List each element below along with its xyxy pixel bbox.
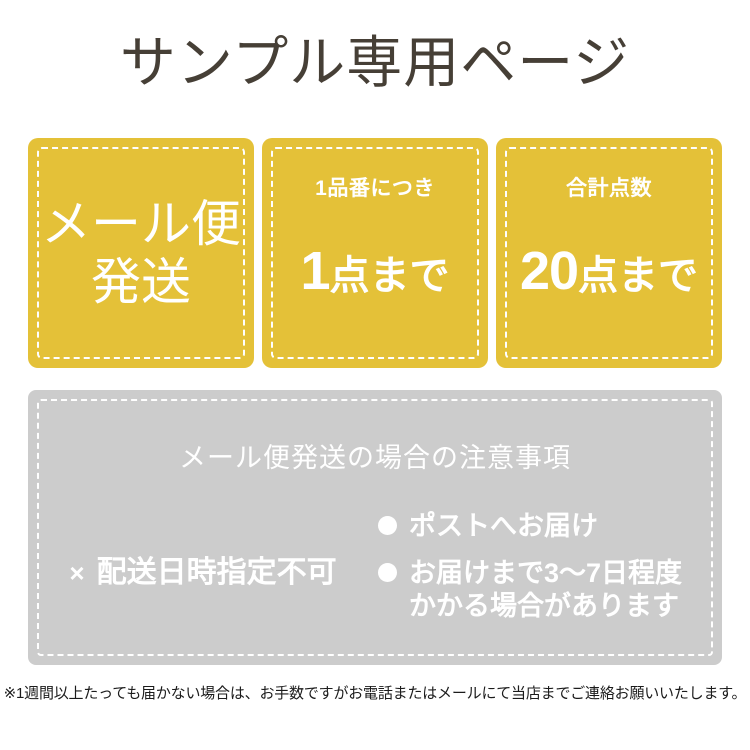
per-item-limit-value: 1 点まで bbox=[300, 244, 449, 298]
bullet-line: お届けまで3〜7日程度 bbox=[409, 557, 682, 590]
notice-panel: メール便発送の場合の注意事項 × 配送日時指定不可 ポストへお届け お届けまで3… bbox=[28, 390, 722, 665]
promo-banner: サンプル専用ページ メール便 発送 1品番につき 1 点まで bbox=[0, 0, 750, 750]
total-limit-number: 20 bbox=[520, 244, 578, 298]
per-item-limit-number: 1 bbox=[300, 244, 329, 298]
shipping-method-line-2: 発送 bbox=[91, 253, 191, 311]
bullet-line: ポストへお届け bbox=[409, 510, 598, 543]
feature-box-content: メール便 発送 bbox=[41, 195, 241, 311]
notice-no-date-designation: × 配送日時指定不可 bbox=[28, 508, 378, 638]
per-item-limit-heading: 1品番につき bbox=[315, 176, 435, 202]
page-title: サンプル専用ページ bbox=[0, 31, 750, 95]
cross-icon: × bbox=[69, 554, 84, 592]
feature-box-per-item-limit: 1品番につき 1 点まで bbox=[262, 138, 488, 368]
feature-box-shipping-method: メール便 発送 bbox=[28, 138, 254, 368]
bullet-text: お届けまで3〜7日程度 かかる場合があります bbox=[409, 557, 682, 623]
total-limit-heading: 合計点数 bbox=[566, 176, 652, 202]
bullet-line: かかる場合があります bbox=[409, 590, 682, 623]
bullet-dot-icon bbox=[378, 563, 397, 582]
notice-no-date-designation-label: 配送日時指定不可 bbox=[97, 554, 337, 592]
footer-note: ※1週間以上たっても届かない場合は、お手数ですがお電話またはメールにて当店までご… bbox=[0, 684, 750, 704]
bullet-text: ポストへお届け bbox=[409, 510, 598, 543]
total-limit-value: 20 点まで bbox=[520, 244, 698, 298]
list-item: ポストへお届け bbox=[378, 510, 722, 543]
feature-box-content: 合計点数 20 点まで bbox=[496, 138, 722, 368]
per-item-limit-unit: 点まで bbox=[330, 256, 450, 296]
feature-box-row: メール便 発送 1品番につき 1 点まで 合計点数 20 点まで bbox=[28, 138, 722, 368]
notice-heading: メール便発送の場合の注意事項 bbox=[28, 441, 722, 475]
feature-box-total-limit: 合計点数 20 点まで bbox=[496, 138, 722, 368]
list-item: お届けまで3〜7日程度 かかる場合があります bbox=[378, 557, 722, 623]
bullet-dot-icon bbox=[378, 516, 397, 535]
shipping-method-line-1: メール便 bbox=[41, 195, 241, 253]
total-limit-unit: 点まで bbox=[578, 256, 698, 296]
notice-bullet-list: ポストへお届け お届けまで3〜7日程度 かかる場合があります bbox=[378, 508, 722, 623]
feature-box-content: 1品番につき 1 点まで bbox=[262, 138, 488, 368]
notice-body: × 配送日時指定不可 ポストへお届け お届けまで3〜7日程度 かかる場合がありま… bbox=[28, 508, 722, 648]
